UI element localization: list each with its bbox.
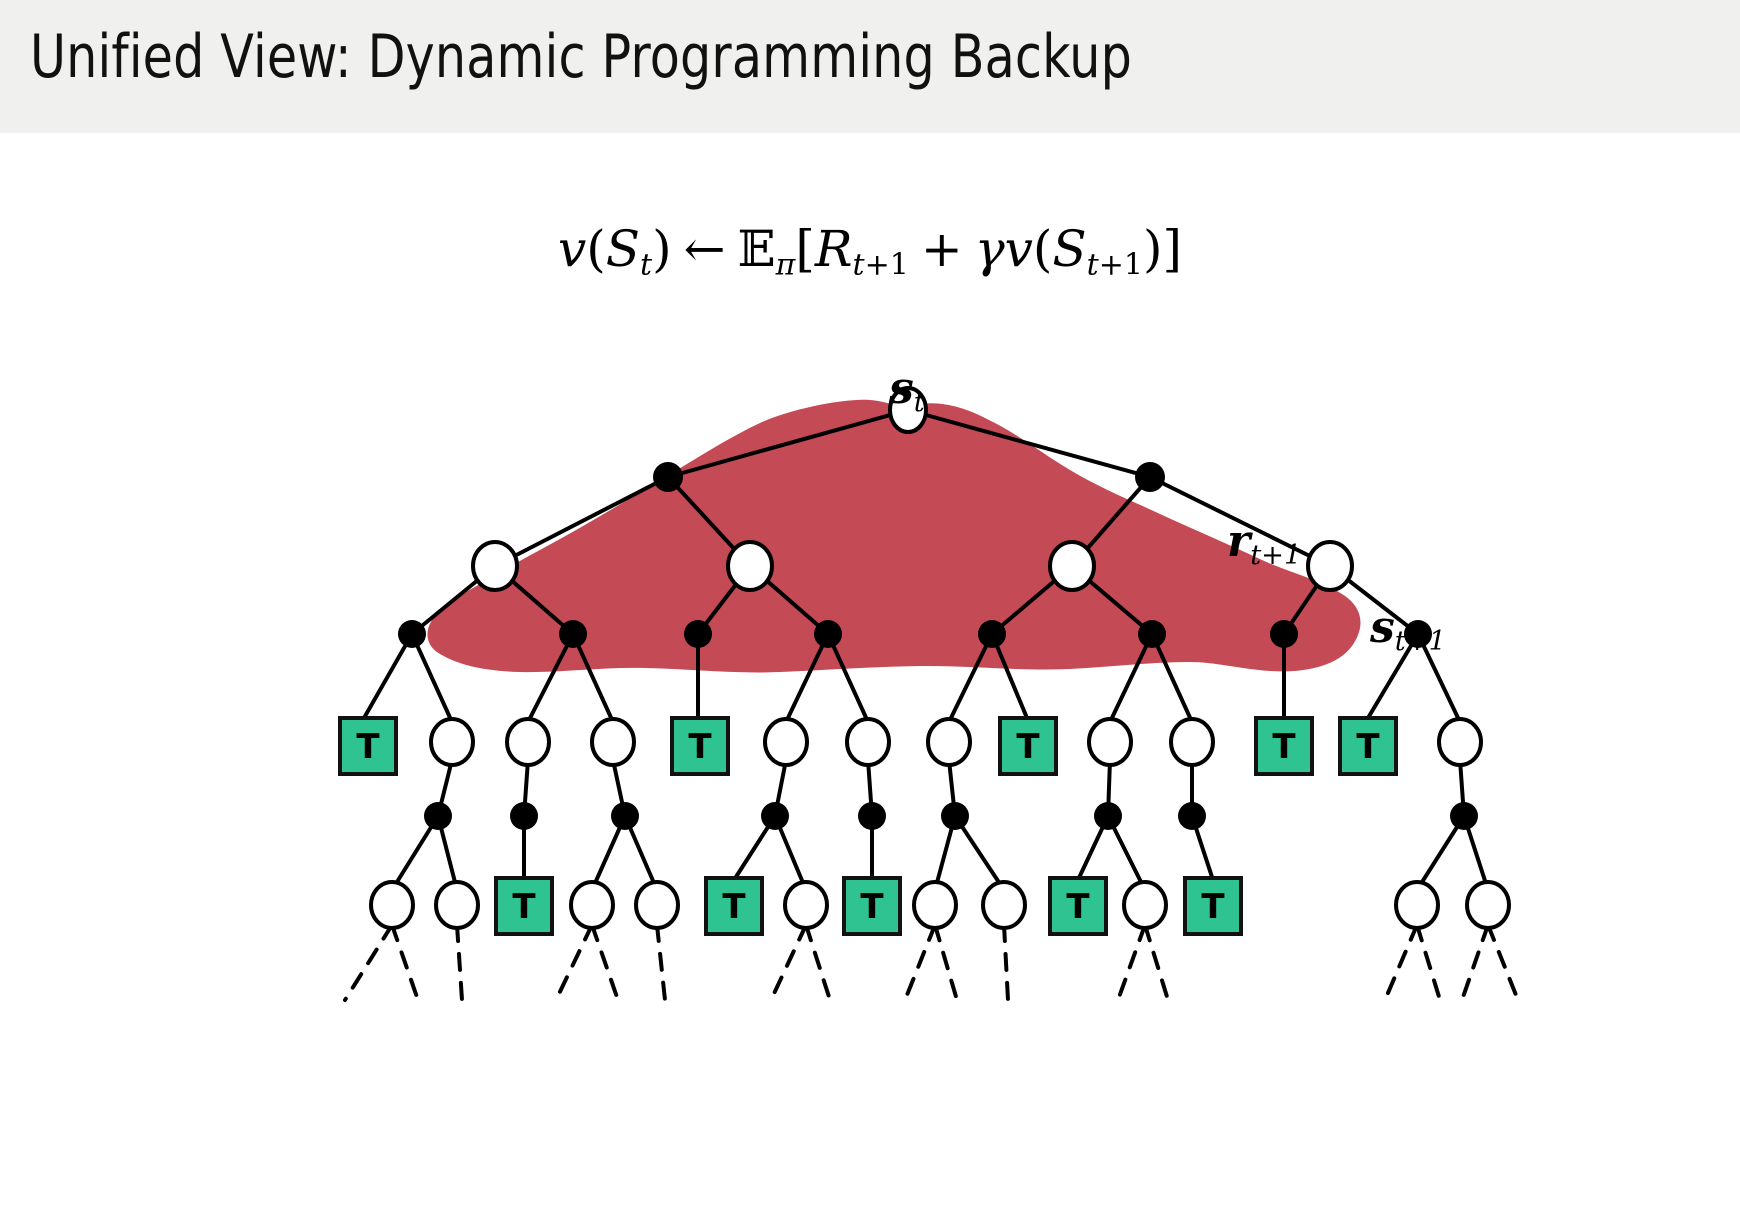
action-node bbox=[684, 620, 712, 648]
state-node bbox=[1439, 719, 1481, 765]
state-node bbox=[1089, 719, 1131, 765]
svg-text:T: T bbox=[1272, 727, 1296, 767]
state-node bbox=[1171, 719, 1213, 765]
action-node bbox=[559, 620, 587, 648]
svg-text:T: T bbox=[860, 887, 884, 927]
state-node bbox=[765, 719, 807, 765]
terminal-node: T bbox=[706, 878, 762, 934]
action-node bbox=[611, 802, 639, 830]
state-node bbox=[1467, 882, 1509, 928]
edge-dashed-5 bbox=[592, 925, 618, 1000]
label-next-state: st+1 bbox=[1370, 602, 1446, 657]
state-node bbox=[1050, 542, 1094, 590]
action-node bbox=[978, 620, 1006, 648]
state-node bbox=[507, 719, 549, 765]
action-node bbox=[1178, 802, 1206, 830]
state-node bbox=[847, 719, 889, 765]
svg-text:T: T bbox=[1066, 887, 1090, 927]
edge-a1-T1 bbox=[364, 634, 412, 718]
action-node bbox=[1270, 620, 1298, 648]
state-node bbox=[431, 719, 473, 765]
action-node bbox=[398, 620, 426, 648]
edge-dashed-8 bbox=[806, 925, 830, 1000]
terminal-node: T bbox=[844, 878, 900, 934]
terminal-node: T bbox=[1000, 718, 1056, 774]
svg-text:T: T bbox=[512, 887, 536, 927]
svg-text:T: T bbox=[1016, 727, 1040, 767]
state-node bbox=[983, 882, 1025, 928]
state-node bbox=[728, 542, 772, 590]
label-root-state: st bbox=[889, 363, 925, 418]
state-node bbox=[636, 882, 678, 928]
state-node bbox=[473, 542, 517, 590]
svg-text:T: T bbox=[1356, 727, 1380, 767]
action-node bbox=[814, 620, 842, 648]
edge-dashed-4 bbox=[556, 925, 592, 1000]
state-node bbox=[928, 719, 970, 765]
action-node bbox=[858, 802, 886, 830]
action-node bbox=[1450, 802, 1478, 830]
terminal-node: T bbox=[1256, 718, 1312, 774]
edge-dashed-9 bbox=[905, 925, 935, 1000]
edge-dashed-12 bbox=[1118, 925, 1145, 1000]
state-node bbox=[571, 882, 613, 928]
state-node bbox=[785, 882, 827, 928]
state-node bbox=[1308, 542, 1352, 590]
action-node bbox=[941, 802, 969, 830]
terminal-node: T bbox=[1340, 718, 1396, 774]
action-node bbox=[1138, 620, 1166, 648]
terminal-node: T bbox=[496, 878, 552, 934]
state-node bbox=[1124, 882, 1166, 928]
state-node bbox=[592, 719, 634, 765]
edge-dashed-13 bbox=[1145, 925, 1168, 1000]
svg-text:T: T bbox=[356, 727, 380, 767]
edge-dashed-1 bbox=[345, 925, 392, 1000]
terminal-node: T bbox=[340, 718, 396, 774]
edge-dashed-7 bbox=[771, 925, 806, 1000]
state-node bbox=[914, 882, 956, 928]
edge-dashed-6 bbox=[657, 925, 665, 1000]
action-node bbox=[1135, 462, 1165, 492]
edge-dashed-17 bbox=[1488, 925, 1518, 1000]
state-node bbox=[1396, 882, 1438, 928]
edge-dashed-2 bbox=[392, 925, 418, 1000]
action-node bbox=[1094, 802, 1122, 830]
slide-root: Unified View: Dynamic Programming Backup… bbox=[0, 0, 1740, 1218]
action-node bbox=[653, 462, 683, 492]
edge-dashed-15 bbox=[1417, 925, 1440, 1000]
terminal-node: T bbox=[1185, 878, 1241, 934]
terminal-node: T bbox=[672, 718, 728, 774]
action-node bbox=[761, 802, 789, 830]
edge-dashed-3 bbox=[457, 925, 462, 1000]
edge-dashed-10 bbox=[935, 925, 957, 1000]
action-node bbox=[510, 802, 538, 830]
terminal-node: T bbox=[1050, 878, 1106, 934]
edge-dashed-16 bbox=[1462, 925, 1488, 1000]
edge-dashed-11 bbox=[1004, 925, 1008, 1000]
state-node bbox=[371, 882, 413, 928]
svg-text:T: T bbox=[688, 727, 712, 767]
svg-text:T: T bbox=[722, 887, 746, 927]
state-node bbox=[436, 882, 478, 928]
label-reward: rt+1 bbox=[1227, 516, 1301, 571]
backup-tree-diagram: T T T T T T T bbox=[0, 0, 1740, 1218]
svg-text:T: T bbox=[1201, 887, 1225, 927]
action-node bbox=[424, 802, 452, 830]
edge-dashed-14 bbox=[1385, 925, 1417, 1000]
